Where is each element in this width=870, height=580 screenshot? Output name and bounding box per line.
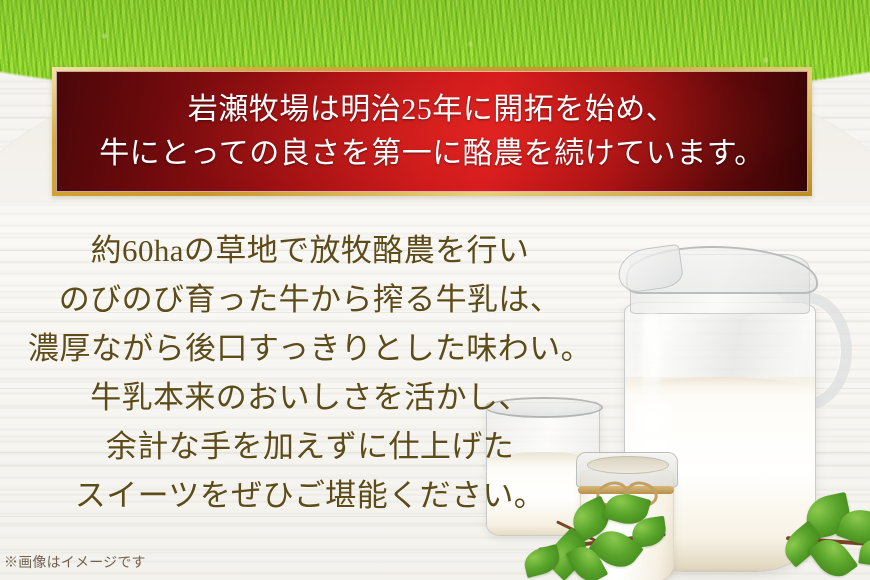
headline-banner: 岩瀬牧場は明治25年に開拓を始め、 牛にとっての良さを第一に酪農を続けています。 [52, 67, 812, 196]
promotional-banner-image: 岩瀬牧場は明治25年に開拓を始め、 牛にとっての良さを第一に酪農を続けています。… [0, 0, 870, 580]
mint-sprig-right [782, 490, 870, 576]
pitcher-highlight [642, 314, 660, 432]
description-line-3: 濃厚ながら後口すっきりとした味わい。 [0, 324, 620, 373]
description-line-2: のびのび育った牛から搾る牛乳は、 [0, 275, 620, 324]
description-line-1: 約60haの草地で放牧酪農を行い [0, 226, 620, 275]
description-line-6: スイーツをぜひご堪能ください。 [0, 471, 620, 520]
description-line-5: 余計な手を加えずに仕上げた [0, 422, 620, 471]
image-disclaimer: ※画像はイメージです [4, 552, 146, 572]
description-line-4: 牛乳本来のおいしさを活かし、 [0, 373, 620, 422]
headline-line-2: 牛にとっての良さを第一に酪農を続けています。 [99, 132, 765, 176]
headline-line-1: 岩瀬牧場は明治25年に開拓を始め、 [188, 88, 677, 132]
headline-banner-inner: 岩瀬牧場は明治25年に開拓を始め、 牛にとっての良さを第一に酪農を続けています。 [56, 71, 808, 192]
description-text-block: 約60haの草地で放牧酪農を行い のびのび育った牛から搾る牛乳は、 濃厚ながら後… [0, 226, 620, 520]
